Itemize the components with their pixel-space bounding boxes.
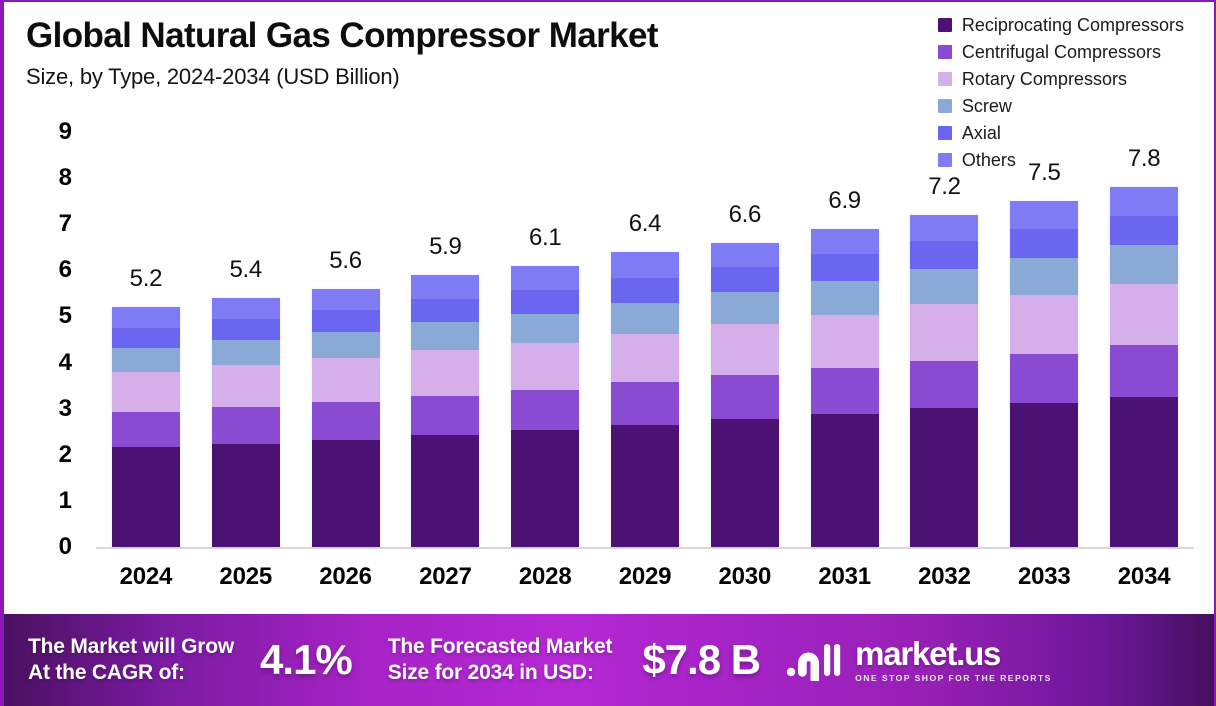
bar-segment-2030-0[interactable] <box>711 419 779 547</box>
bar-segment-2030-1[interactable] <box>711 375 779 419</box>
infographic-root: Global Natural Gas Compressor Market Siz… <box>0 0 1216 706</box>
bar-segment-2031-1[interactable] <box>811 368 879 414</box>
bar-segment-2026-5[interactable] <box>312 289 380 310</box>
bar-segment-2033-4[interactable] <box>1010 229 1078 258</box>
forecast-size-label-line2: Size for 2034 in USD: <box>388 661 594 684</box>
bar-segment-2027-3[interactable] <box>411 322 479 350</box>
y-axis-tick-5: 5 <box>59 302 72 330</box>
bar-segment-2027-4[interactable] <box>411 299 479 322</box>
bar-segment-2028-1[interactable] <box>511 390 579 431</box>
y-axis-tick-6: 6 <box>59 256 72 284</box>
bar-group-2030[interactable]: 6.62030 <box>695 2 795 608</box>
bar-segment-2034-1[interactable] <box>1110 345 1178 397</box>
bar-segment-2033-0[interactable] <box>1010 403 1078 547</box>
bar-stack-2028[interactable] <box>511 266 579 547</box>
bar-group-2029[interactable]: 6.42029 <box>595 2 695 608</box>
bar-segment-2031-2[interactable] <box>811 315 879 368</box>
cagr-label-line1: The Market will Grow <box>28 635 234 658</box>
bar-segment-2032-4[interactable] <box>910 241 978 269</box>
y-axis-tick-9: 9 <box>59 118 72 146</box>
bar-segment-2031-5[interactable] <box>811 229 879 254</box>
bar-segment-2024-4[interactable] <box>112 328 180 348</box>
bar-stack-2033[interactable] <box>1010 201 1078 547</box>
market-us-logo-text: market.us ONE STOP SHOP FOR THE REPORTS <box>855 637 1052 683</box>
bar-segment-2025-4[interactable] <box>212 319 280 340</box>
bar-segment-2025-0[interactable] <box>212 444 280 547</box>
bar-segment-2034-4[interactable] <box>1110 216 1178 246</box>
bar-stack-2034[interactable] <box>1110 187 1178 547</box>
bar-segment-2028-5[interactable] <box>511 266 579 290</box>
bar-segment-2032-3[interactable] <box>910 269 978 305</box>
bar-segment-2026-1[interactable] <box>312 402 380 440</box>
market-us-logo-icon <box>786 639 844 681</box>
bar-segment-2026-3[interactable] <box>312 332 380 358</box>
x-axis-tick-2034: 2034 <box>1074 563 1214 591</box>
bar-segment-2027-0[interactable] <box>411 435 479 547</box>
bar-group-2032[interactable]: 7.22032 <box>895 2 995 608</box>
bar-stack-2027[interactable] <box>411 275 479 547</box>
y-axis-tick-0: 0 <box>59 533 72 561</box>
bar-segment-2028-2[interactable] <box>511 343 579 390</box>
footer-banner: The Market will Grow At the CAGR of: 4.1… <box>4 614 1216 706</box>
bar-stack-2029[interactable] <box>611 252 679 547</box>
bar-segment-2025-1[interactable] <box>212 407 280 443</box>
bar-segment-2030-4[interactable] <box>711 267 779 292</box>
bar-segment-2032-5[interactable] <box>910 215 978 241</box>
bar-group-2024[interactable]: 5.22024 <box>96 2 196 608</box>
bar-segment-2025-2[interactable] <box>212 365 280 407</box>
bar-segment-2029-3[interactable] <box>611 303 679 333</box>
bar-segment-2033-3[interactable] <box>1010 258 1078 295</box>
bar-segment-2032-2[interactable] <box>910 304 978 360</box>
bar-segment-2029-4[interactable] <box>611 278 679 303</box>
bar-segment-2029-2[interactable] <box>611 334 679 383</box>
bar-segment-2029-1[interactable] <box>611 382 679 424</box>
bar-segment-2033-5[interactable] <box>1010 201 1078 229</box>
bar-group-2027[interactable]: 5.92027 <box>395 2 495 608</box>
y-axis-tick-2: 2 <box>59 441 72 469</box>
bar-group-2031[interactable]: 6.92031 <box>795 2 895 608</box>
bar-segment-2024-2[interactable] <box>112 372 180 413</box>
bar-segment-2032-1[interactable] <box>910 361 978 408</box>
bar-segment-2027-1[interactable] <box>411 396 479 435</box>
bar-stack-2026[interactable] <box>312 289 380 547</box>
bar-segment-2034-3[interactable] <box>1110 245 1178 284</box>
bar-segment-2025-5[interactable] <box>212 298 280 319</box>
logo-tagline: ONE STOP SHOP FOR THE REPORTS <box>855 673 1052 683</box>
bar-segment-2024-0[interactable] <box>112 447 180 547</box>
bar-segment-2024-3[interactable] <box>112 348 180 372</box>
bar-group-2034[interactable]: 7.82034 <box>1094 2 1194 608</box>
bar-segment-2025-3[interactable] <box>212 340 280 365</box>
forecast-size-value: $7.8 B <box>642 636 760 684</box>
y-axis-tick-4: 4 <box>59 349 72 377</box>
bar-segment-2026-0[interactable] <box>312 440 380 547</box>
bar-segment-2034-2[interactable] <box>1110 284 1178 345</box>
bar-segment-2032-0[interactable] <box>910 408 978 547</box>
bar-segment-2028-4[interactable] <box>511 290 579 314</box>
bar-segment-2034-5[interactable] <box>1110 187 1178 215</box>
bar-stack-2024[interactable] <box>112 307 180 547</box>
bar-segment-2029-0[interactable] <box>611 425 679 547</box>
cagr-label-line2: At the CAGR of: <box>28 661 185 684</box>
bar-value-label-2034: 7.8 <box>1084 145 1204 173</box>
bar-segment-2031-0[interactable] <box>811 414 879 547</box>
forecast-size-label: The Forecasted Market Size for 2034 in U… <box>388 634 613 685</box>
bar-segment-2027-2[interactable] <box>411 350 479 396</box>
bar-stack-2030[interactable] <box>711 243 779 547</box>
y-axis-tick-1: 1 <box>59 487 72 515</box>
chart-plot-area: 0123456789 5.220245.420255.620265.920276… <box>4 2 1216 608</box>
bar-series-container: 5.220245.420255.620265.920276.120286.420… <box>96 2 1194 608</box>
bar-group-2033[interactable]: 7.52033 <box>994 2 1094 608</box>
bar-segment-2028-0[interactable] <box>511 430 579 547</box>
bar-segment-2030-3[interactable] <box>711 292 779 324</box>
bar-group-2025[interactable]: 5.42025 <box>196 2 296 608</box>
bar-segment-2031-4[interactable] <box>811 254 879 281</box>
bar-segment-2026-4[interactable] <box>312 310 380 332</box>
cagr-label: The Market will Grow At the CAGR of: <box>28 634 234 685</box>
bar-segment-2027-5[interactable] <box>411 275 479 299</box>
market-us-logo[interactable]: market.us ONE STOP SHOP FOR THE REPORTS <box>786 637 1052 683</box>
forecast-size-label-line1: The Forecasted Market <box>388 635 613 658</box>
bar-segment-2030-5[interactable] <box>711 243 779 267</box>
y-axis: 0123456789 <box>4 2 96 608</box>
bar-segment-2026-2[interactable] <box>312 358 380 402</box>
y-axis-tick-7: 7 <box>59 210 72 238</box>
bar-segment-2033-1[interactable] <box>1010 354 1078 403</box>
bar-segment-2029-5[interactable] <box>611 252 679 278</box>
cagr-value: 4.1% <box>260 636 352 684</box>
bar-segment-2024-5[interactable] <box>112 307 180 327</box>
logo-wordmark: market.us <box>855 637 1052 670</box>
y-axis-tick-8: 8 <box>59 164 72 192</box>
bar-group-2026[interactable]: 5.62026 <box>296 2 396 608</box>
bar-segment-2034-0[interactable] <box>1110 397 1178 547</box>
bar-group-2028[interactable]: 6.12028 <box>495 2 595 608</box>
bar-stack-2031[interactable] <box>811 229 879 547</box>
bar-stack-2025[interactable] <box>212 298 280 547</box>
bar-segment-2030-2[interactable] <box>711 324 779 375</box>
bar-segment-2024-1[interactable] <box>112 412 180 447</box>
bar-segment-2031-3[interactable] <box>811 281 879 315</box>
bar-segment-2028-3[interactable] <box>511 314 579 343</box>
bar-stack-2032[interactable] <box>910 215 978 547</box>
y-axis-tick-3: 3 <box>59 395 72 423</box>
bar-segment-2033-2[interactable] <box>1010 295 1078 354</box>
